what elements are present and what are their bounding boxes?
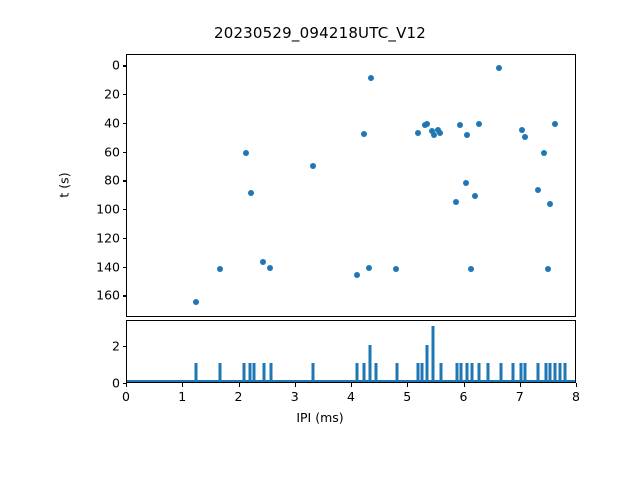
x-tick-mark	[520, 383, 521, 387]
histogram-bar	[363, 363, 366, 382]
x-tick-label: 4	[347, 389, 355, 404]
histogram-bar	[270, 363, 273, 382]
matplotlib-figure: 20230529_094218UTC_V12 02040608010012014…	[0, 0, 640, 480]
scatter-point	[519, 127, 525, 133]
histogram-bar	[559, 363, 562, 382]
y-tick-label: 2	[84, 338, 120, 353]
x-tick-mark	[295, 383, 296, 387]
x-tick-label: 1	[178, 389, 186, 404]
y-tick-mark	[123, 267, 127, 268]
histogram-bar	[536, 363, 539, 382]
x-tick-label: 3	[291, 389, 299, 404]
y-tick-label: 100	[84, 202, 120, 217]
scatter-point	[468, 266, 474, 272]
scatter-point	[545, 266, 551, 272]
scatter-point	[267, 265, 273, 271]
histogram-bar	[499, 363, 502, 382]
histogram-bar	[553, 363, 556, 382]
scatter-point	[424, 121, 430, 127]
histogram-bar	[248, 363, 251, 382]
y-tick-mark	[123, 238, 127, 239]
histogram-bar	[478, 363, 481, 382]
x-tick-label: 0	[122, 389, 130, 404]
histogram-bar	[426, 345, 429, 382]
y-tick-label: 20	[84, 87, 120, 102]
histogram-bar	[253, 363, 256, 382]
y-tick-mark	[123, 152, 127, 153]
y-tick-mark	[123, 65, 127, 66]
y-tick-label: 40	[84, 115, 120, 130]
x-tick-label: 2	[235, 389, 243, 404]
y-tick-mark	[123, 209, 127, 210]
x-tick-mark	[126, 383, 127, 387]
y-axis-label: t (s)	[57, 172, 72, 197]
histogram-bar	[219, 363, 222, 382]
x-tick-mark	[576, 383, 577, 387]
x-tick-mark	[182, 383, 183, 387]
scatter-point	[522, 134, 528, 140]
histogram-bar	[194, 363, 197, 382]
x-axis-label: IPI (ms)	[0, 410, 640, 425]
histogram-bar	[432, 326, 435, 382]
x-tick-mark	[351, 383, 352, 387]
scatter-point	[260, 259, 266, 265]
scatter-point	[393, 266, 399, 272]
y-tick-label: 60	[84, 144, 120, 159]
y-tick-label: 140	[84, 259, 120, 274]
y-tick-mark	[123, 346, 127, 347]
scatter-point	[366, 265, 372, 271]
x-tick-mark	[464, 383, 465, 387]
histogram-bar	[519, 363, 522, 382]
histogram-bar	[243, 363, 246, 382]
histogram-bar	[524, 363, 527, 382]
histogram-bar	[439, 363, 442, 382]
histogram-bar	[563, 363, 566, 382]
histogram-bar	[263, 363, 266, 382]
scatter-point	[547, 201, 553, 207]
scatter-point	[464, 132, 470, 138]
scatter-point	[496, 65, 502, 71]
x-tick-mark	[407, 383, 408, 387]
y-tick-mark	[123, 94, 127, 95]
scatter-point	[437, 130, 443, 136]
histogram-bar	[369, 345, 372, 382]
scatter-point	[541, 150, 547, 156]
histogram-bar	[355, 363, 358, 382]
y-tick-label: 120	[84, 230, 120, 245]
scatter-point	[457, 122, 463, 128]
scatter-point	[354, 272, 360, 278]
y-tick-mark	[123, 123, 127, 124]
x-tick-label: 7	[516, 389, 524, 404]
histogram-bar	[396, 363, 399, 382]
y-tick-label: 0	[84, 58, 120, 73]
scatter-point	[552, 121, 558, 127]
histogram-bar	[511, 363, 514, 382]
scatter-point	[453, 199, 459, 205]
histogram-bar	[544, 363, 547, 382]
y-tick-label: 80	[84, 173, 120, 188]
y-tick-mark	[123, 295, 127, 296]
figure-title: 20230529_094218UTC_V12	[0, 24, 640, 42]
scatter-point	[472, 193, 478, 199]
scatter-point	[415, 130, 421, 136]
scatter-point	[243, 150, 249, 156]
x-tick-label: 8	[572, 389, 580, 404]
histogram-bar	[455, 363, 458, 382]
y-tick-mark	[123, 180, 127, 181]
histogram-bar	[420, 363, 423, 382]
scatter-point	[368, 75, 374, 81]
histogram-axes	[126, 320, 576, 383]
histogram-bar	[549, 363, 552, 382]
histogram-bar	[487, 363, 490, 382]
scatter-point	[310, 163, 316, 169]
scatter-point	[248, 190, 254, 196]
histogram-bar	[465, 363, 468, 382]
scatter-point	[535, 187, 541, 193]
histogram-bar	[471, 363, 474, 382]
scatter-point	[361, 131, 367, 137]
scatter-point	[193, 299, 199, 305]
x-tick-mark	[239, 383, 240, 387]
scatter-point	[476, 121, 482, 127]
histogram-bar	[374, 363, 377, 382]
y-tick-label: 160	[84, 288, 120, 303]
scatter-axes	[126, 54, 576, 317]
x-tick-label: 5	[403, 389, 411, 404]
histogram-bar	[311, 363, 314, 382]
scatter-point	[463, 180, 469, 186]
scatter-point	[217, 266, 223, 272]
y-tick-label: 0	[84, 376, 120, 391]
histogram-bar	[460, 363, 463, 382]
x-tick-label: 6	[460, 389, 468, 404]
